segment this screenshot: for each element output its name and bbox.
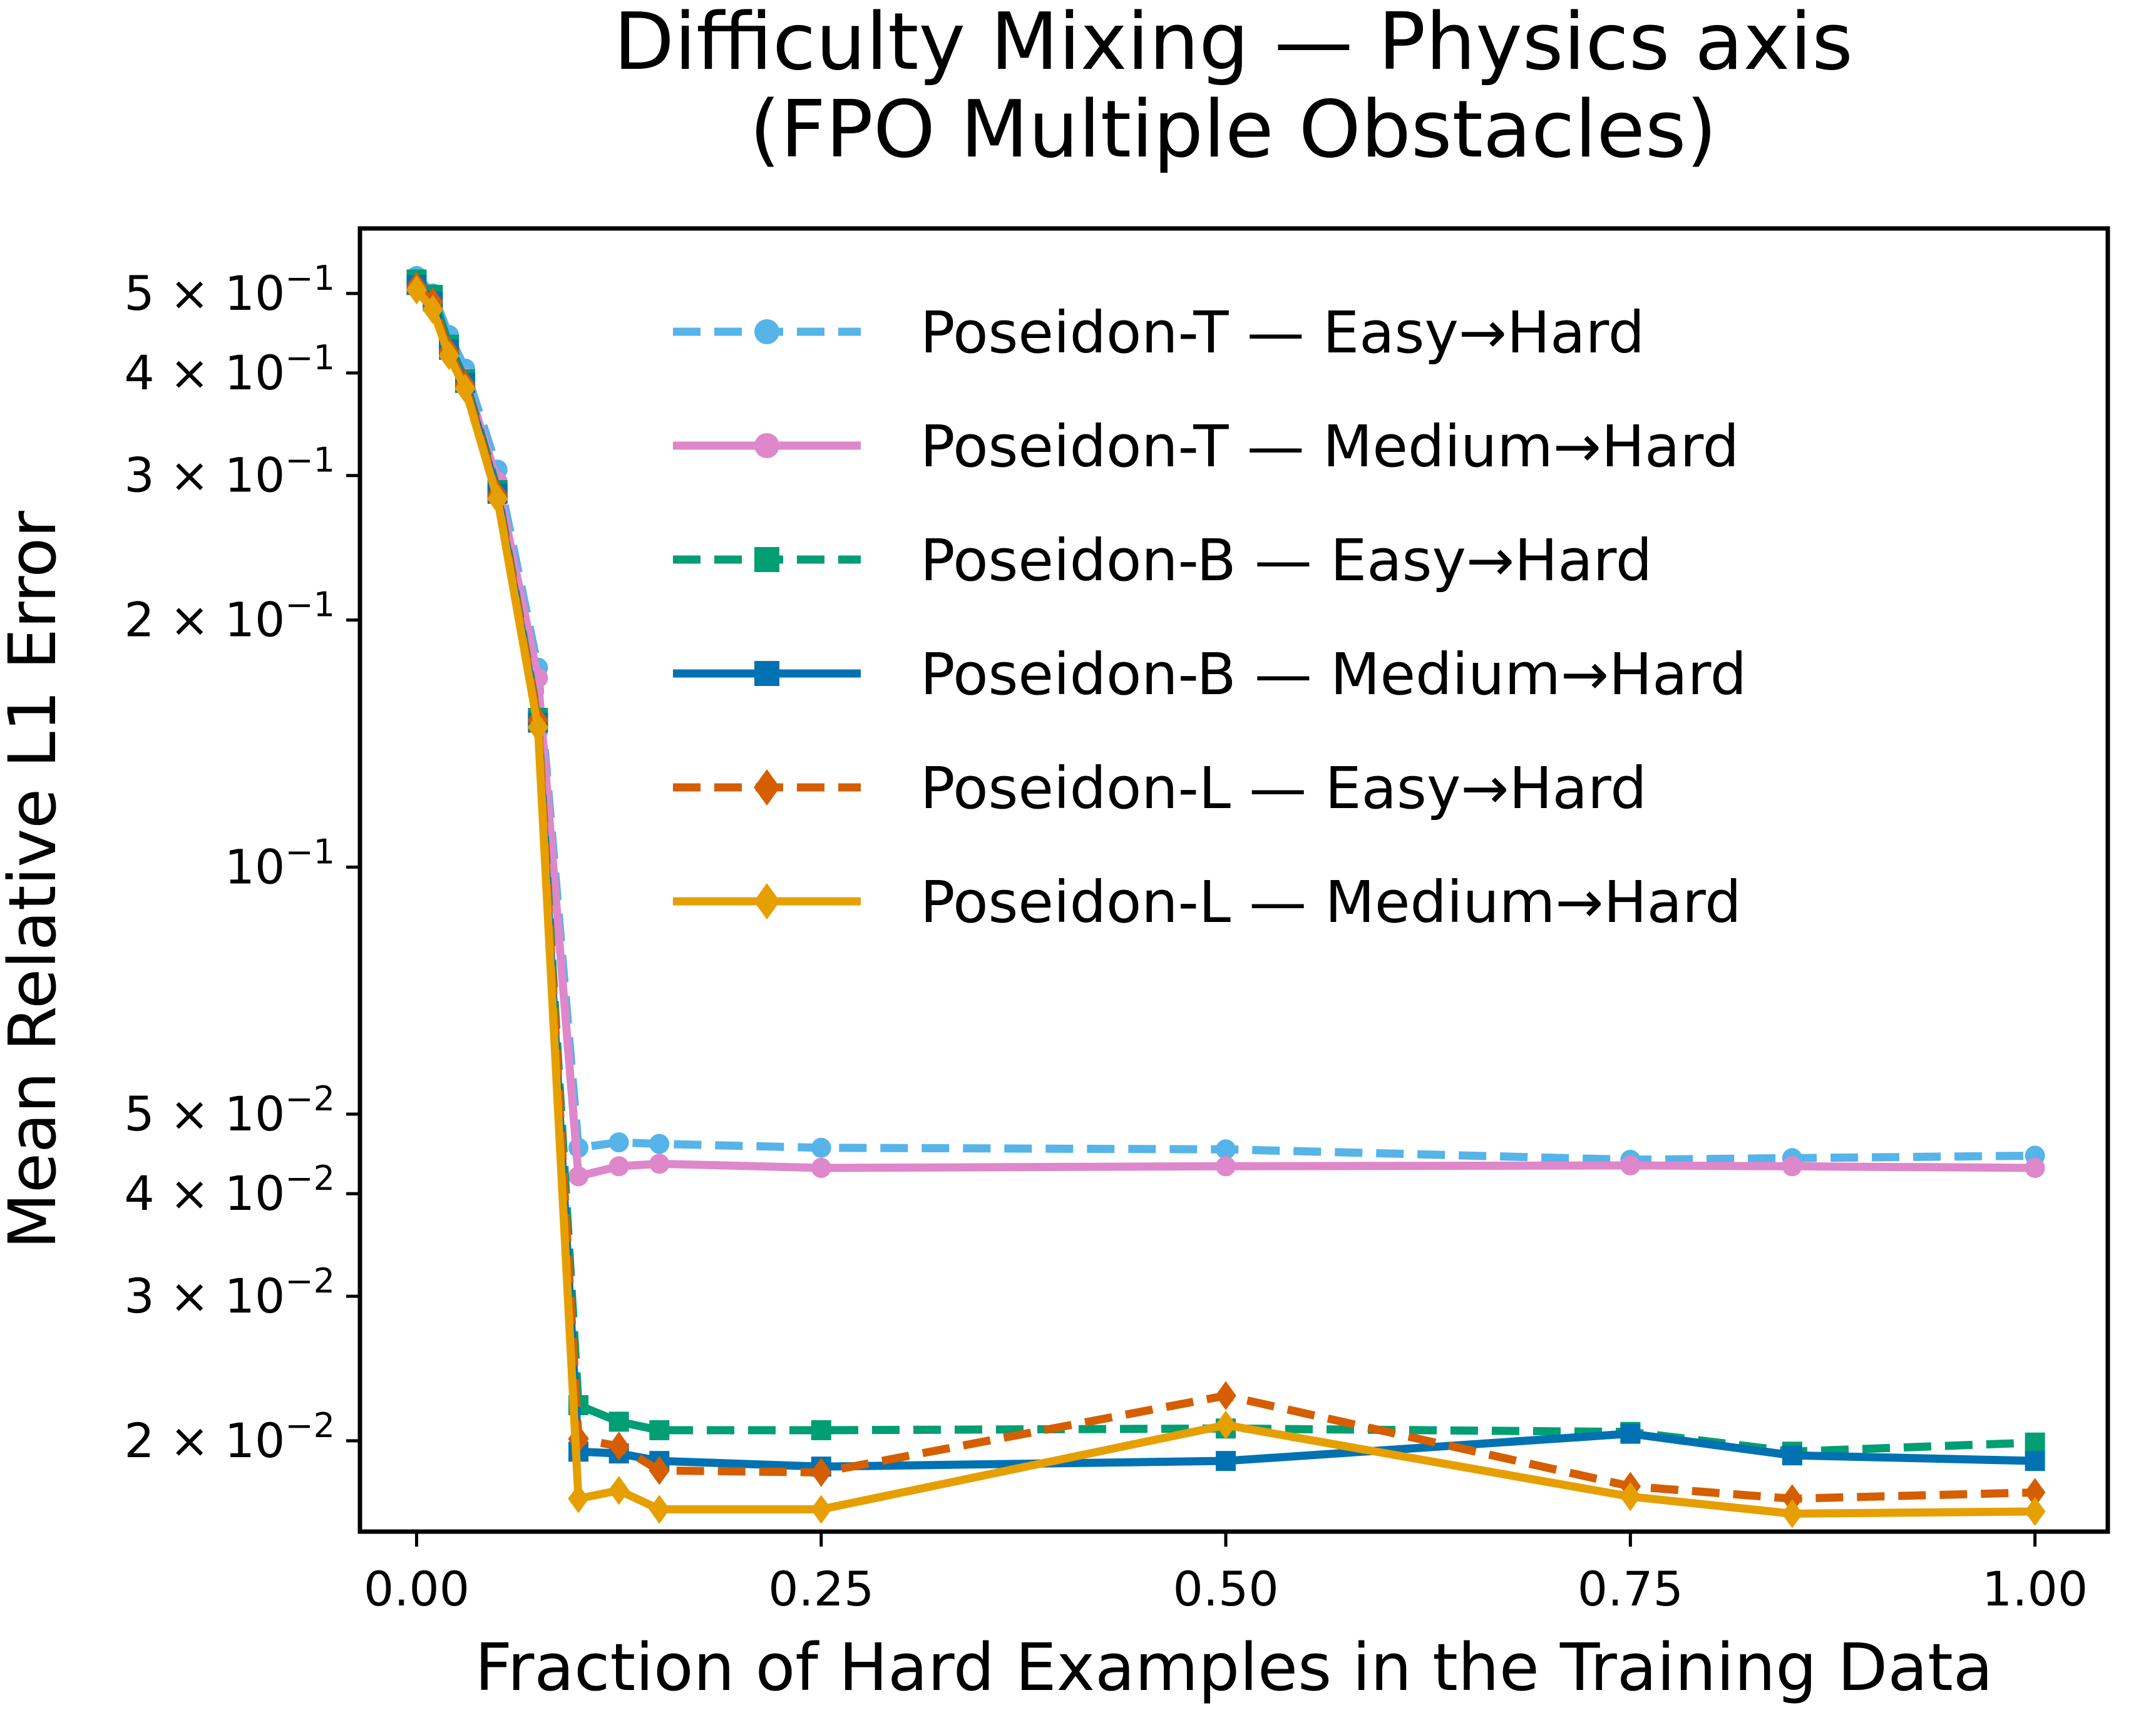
chart-title-line-1: Difficulty Mixing — Physics axis (613, 0, 1853, 88)
legend-entry-5[interactable]: Poseidon-L — Medium→Hard (673, 869, 1742, 936)
x-axis-title: Fraction of Hard Examples in the Trainin… (475, 1629, 1993, 1706)
legend-marker-circle-icon (754, 319, 779, 344)
data-point-marker (1215, 1381, 1236, 1410)
legend-label: Poseidon-B — Medium→Hard (920, 641, 1747, 708)
data-point-marker (568, 1166, 588, 1186)
legend-marker-square-icon (754, 661, 779, 686)
data-point-marker (609, 1411, 629, 1431)
legend-marker-circle-icon (754, 433, 779, 458)
series-line (416, 276, 2035, 1160)
legend-entry-2[interactable]: Poseidon-B — Easy→Hard (673, 527, 1652, 594)
y-tick-label: 4 × 10−1 (124, 338, 335, 401)
data-point-marker (1782, 1156, 1802, 1176)
legend-marker-square-icon (754, 547, 779, 572)
data-point-marker (649, 1154, 669, 1174)
data-point-marker (1782, 1499, 1802, 1528)
y-tick-label: 4 × 10−2 (124, 1159, 335, 1221)
data-point-marker (1216, 1156, 1236, 1176)
figure-container: Difficulty Mixing — Physics axis(FPO Mul… (0, 0, 2156, 1710)
data-point-marker (609, 1132, 629, 1152)
x-tick-label: 1.00 (1982, 1561, 2088, 1617)
data-point-marker (811, 1158, 831, 1178)
data-point-marker (649, 1420, 669, 1440)
y-tick-label: 2 × 10−1 (124, 585, 335, 648)
data-point-marker (1620, 1155, 1640, 1175)
data-point-marker (649, 1134, 669, 1154)
x-tick-label: 0.50 (1173, 1561, 1278, 1617)
data-point-marker (811, 1138, 831, 1158)
data-point-marker (609, 1156, 629, 1176)
y-tick-label: 2 × 10−2 (124, 1406, 335, 1468)
legend-label: Poseidon-T — Easy→Hard (920, 299, 1645, 366)
data-point-marker (1782, 1445, 1802, 1465)
y-tick-label: 3 × 10−1 (124, 441, 335, 503)
y-tick-label: 10−1 (225, 832, 335, 894)
chart-legend: Poseidon-T — Easy→HardPoseidon-T — Mediu… (673, 299, 1747, 936)
legend-entry-1[interactable]: Poseidon-T — Medium→Hard (673, 413, 1739, 480)
data-point-marker (2025, 1497, 2045, 1526)
data-point-marker (608, 1476, 629, 1505)
data-point-marker (2025, 1451, 2045, 1471)
legend-entry-0[interactable]: Poseidon-T — Easy→Hard (673, 299, 1645, 366)
data-point-marker (1216, 1451, 1236, 1471)
chart-svg: Difficulty Mixing — Physics axis(FPO Mul… (0, 0, 2156, 1710)
legend-marker-diamond-icon (754, 883, 780, 919)
legend-entry-3[interactable]: Poseidon-B — Medium→Hard (673, 641, 1747, 708)
y-tick-label: 5 × 10−1 (124, 259, 335, 321)
y-tick-label: 3 × 10−2 (124, 1261, 335, 1324)
chart-title-group: Difficulty Mixing — Physics axis(FPO Mul… (613, 0, 1853, 175)
legend-label: Poseidon-B — Easy→Hard (920, 527, 1652, 594)
legend-entry-4[interactable]: Poseidon-L — Easy→Hard (673, 755, 1647, 822)
legend-marker-diamond-icon (754, 769, 780, 806)
data-point-marker (2025, 1158, 2045, 1178)
data-point-marker (1620, 1424, 1640, 1444)
legend-label: Poseidon-T — Medium→Hard (920, 413, 1739, 480)
x-tick-label: 0.00 (364, 1561, 470, 1617)
legend-label: Poseidon-L — Easy→Hard (920, 755, 1647, 822)
data-point-marker (568, 1484, 588, 1513)
data-point-marker (811, 1420, 831, 1440)
y-axis-title: Mean Relative L1 Error (0, 511, 71, 1249)
y-tick-label: 5 × 10−2 (124, 1079, 335, 1142)
data-point-marker (2025, 1433, 2045, 1453)
x-tick-label: 0.25 (768, 1561, 874, 1617)
x-tick-label: 0.75 (1578, 1561, 1683, 1617)
series-0 (406, 266, 2045, 1170)
series-1 (406, 273, 2045, 1186)
chart-title-line-2: (FPO Multiple Obstacles) (749, 83, 1717, 175)
legend-label: Poseidon-L — Medium→Hard (920, 869, 1742, 936)
data-point-marker (811, 1495, 831, 1523)
data-point-marker (649, 1495, 670, 1523)
